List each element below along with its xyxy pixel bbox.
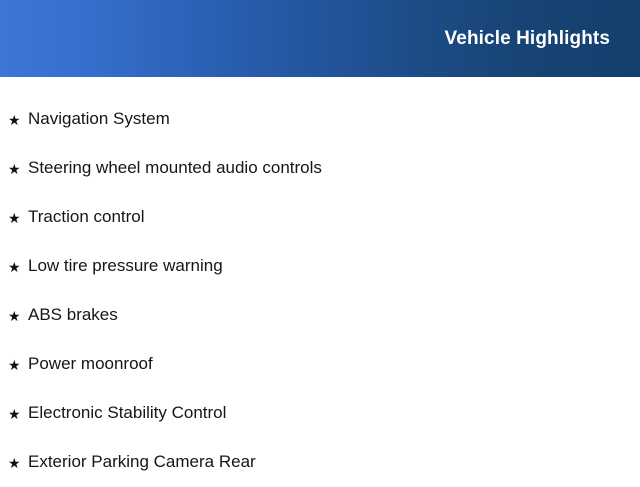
star-icon: ★ (8, 456, 28, 470)
list-item: ★ Traction control (0, 193, 640, 242)
star-icon: ★ (8, 211, 28, 225)
vehicle-highlights-list: ★ Navigation System ★ Steering wheel mou… (0, 77, 640, 487)
list-item-label: Navigation System (28, 110, 170, 129)
star-icon: ★ (8, 260, 28, 274)
list-item-label: ABS brakes (28, 306, 118, 325)
star-icon: ★ (8, 358, 28, 372)
star-icon: ★ (8, 407, 28, 421)
star-icon: ★ (8, 309, 28, 323)
list-item-label: Power moonroof (28, 355, 153, 374)
star-icon: ★ (8, 113, 28, 127)
star-icon: ★ (8, 162, 28, 176)
list-item: ★ ABS brakes (0, 291, 640, 340)
vehicle-highlights-page: Vehicle Highlights ★ Navigation System ★… (0, 0, 640, 480)
list-item: ★ Electronic Stability Control (0, 389, 640, 438)
list-item: ★ Steering wheel mounted audio controls (0, 144, 640, 193)
header-banner: Vehicle Highlights (0, 0, 640, 77)
list-item: ★ Navigation System (0, 95, 640, 144)
list-item-label: Exterior Parking Camera Rear (28, 453, 256, 472)
list-item: ★ Power moonroof (0, 340, 640, 389)
list-item-label: Low tire pressure warning (28, 257, 223, 276)
page-title: Vehicle Highlights (445, 29, 610, 48)
list-item: ★ Low tire pressure warning (0, 242, 640, 291)
list-item-label: Steering wheel mounted audio controls (28, 159, 322, 178)
list-item-label: Electronic Stability Control (28, 404, 226, 423)
list-item-label: Traction control (28, 208, 145, 227)
